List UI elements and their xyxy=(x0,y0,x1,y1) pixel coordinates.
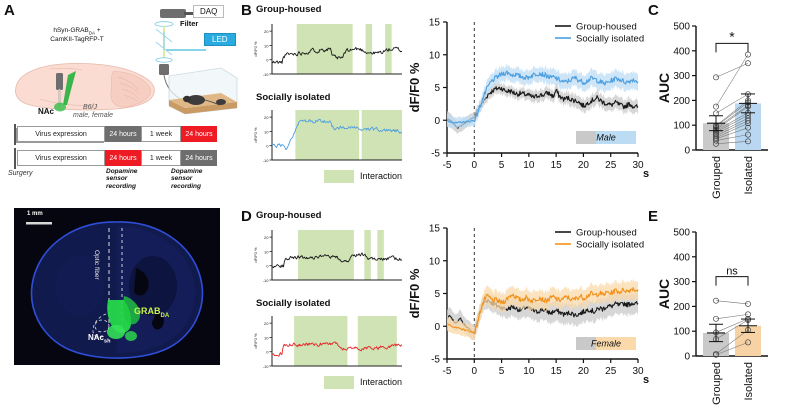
svg-text:-10: -10 xyxy=(263,158,270,163)
svg-text:Grouped: Grouped xyxy=(711,156,723,199)
nac-hist-label: NAcsh xyxy=(88,333,110,345)
scalebar-label: 1 mm xyxy=(27,211,43,217)
nac-expression xyxy=(54,103,66,112)
mouse-intruder xyxy=(216,99,226,105)
svg-text:0: 0 xyxy=(684,146,690,157)
panelb-example-trace-isolated: 20100-10dF/F0 % xyxy=(250,104,405,172)
paneld-mean-trace-chart[interactable]: -5051015-5051015202530dF/F0 %sGroup-hous… xyxy=(405,214,660,389)
svg-text:200: 200 xyxy=(673,302,690,313)
recording-caption-2: Dopamine sensor recording xyxy=(171,168,202,190)
svg-text:Grouped: Grouped xyxy=(711,362,723,405)
svg-text:15: 15 xyxy=(429,224,441,235)
svg-text:0: 0 xyxy=(266,264,269,269)
sex-label: male, female xyxy=(73,112,113,119)
panelb-example-trace-grouped: 20100-10dF/F0 % xyxy=(250,18,405,86)
svg-text:10: 10 xyxy=(523,160,535,171)
histology-image: 1 mm Optic fiber GRABDA NAcsh xyxy=(14,208,220,365)
optic-fiber-label: Optic fiber xyxy=(93,250,100,280)
svg-text:dF/F0 %: dF/F0 % xyxy=(407,268,422,318)
strain-label: B6/J xyxy=(83,104,97,111)
svg-text:20: 20 xyxy=(264,235,269,240)
svg-text:-5: -5 xyxy=(431,149,440,160)
paneld-example-trace-grouped: 20100-10dF/F0 % xyxy=(250,224,405,292)
panelb-trace-bottom-title: Socially isolated xyxy=(256,92,330,103)
svg-text:s: s xyxy=(643,374,649,386)
panel-label-c: C xyxy=(648,2,659,19)
svg-text:dF/F0 %: dF/F0 % xyxy=(407,62,422,112)
svg-text:AUC: AUC xyxy=(656,279,672,309)
svg-text:10: 10 xyxy=(264,249,269,254)
tl-start-tick-2 xyxy=(14,148,16,169)
svg-text:-10: -10 xyxy=(263,278,270,283)
svg-text:dF/F0 %: dF/F0 % xyxy=(253,247,258,263)
tl-cell-24h-1a: 24 hours xyxy=(105,126,141,142)
svg-text:300: 300 xyxy=(673,277,690,288)
panel-label-e: E xyxy=(648,208,658,225)
svg-text:ns: ns xyxy=(726,266,738,278)
timeline-row-1-wrap: Virus expression 24 hours 1 week 24 hour… xyxy=(14,124,220,145)
svg-text:10: 10 xyxy=(523,366,535,377)
svg-text:5: 5 xyxy=(499,160,505,171)
tl-start-tick-1 xyxy=(14,124,16,145)
tl-cell-1week-2: 1 week xyxy=(141,150,181,166)
svg-text:s: s xyxy=(643,168,649,180)
surgery-label: Surgery xyxy=(8,170,33,177)
grab-label-text: GRAB xyxy=(134,306,161,316)
mouse-head xyxy=(183,96,191,102)
svg-text:10: 10 xyxy=(429,50,441,61)
coronal-section xyxy=(14,208,220,365)
paneld-trace-top-title: Group-housed xyxy=(256,210,321,221)
paneld-interaction-swatch xyxy=(324,376,354,389)
svg-text:5: 5 xyxy=(499,366,505,377)
svg-text:25: 25 xyxy=(605,366,617,377)
paneld-trace-bottom-title: Socially isolated xyxy=(256,298,330,309)
paneld-example-trace-isolated: 20100-10dF/F0 % xyxy=(250,310,405,378)
svg-text:0: 0 xyxy=(434,322,440,333)
svg-text:0: 0 xyxy=(434,116,440,127)
svg-text:0: 0 xyxy=(684,352,690,363)
tl-cell-24h-2b: 24 hours xyxy=(181,150,217,166)
lens-1 xyxy=(155,22,173,27)
svg-text:-5: -5 xyxy=(443,160,452,171)
svg-text:400: 400 xyxy=(673,252,690,263)
svg-text:20: 20 xyxy=(264,321,269,326)
construct-plus: + xyxy=(95,27,101,34)
svg-text:100: 100 xyxy=(673,121,690,132)
svg-text:500: 500 xyxy=(673,228,690,239)
svg-text:Group-housed: Group-housed xyxy=(576,22,637,33)
detector-body xyxy=(160,9,186,18)
panelb-interaction-legend: Interaction xyxy=(360,171,402,181)
svg-text:200: 200 xyxy=(673,96,690,107)
svg-text:15: 15 xyxy=(551,160,563,171)
svg-text:5: 5 xyxy=(434,83,440,94)
led-box: LED xyxy=(204,33,236,46)
svg-text:dF/F0 %: dF/F0 % xyxy=(253,333,258,349)
construct-line2: CamKII-TagRFP-T xyxy=(50,36,103,43)
tl-cell-24h-2a: 24 hours xyxy=(105,150,141,166)
daq-box: DAQ xyxy=(193,5,224,18)
svg-text:-10: -10 xyxy=(263,72,270,77)
panel-label-a: A xyxy=(4,2,15,19)
svg-text:*: * xyxy=(729,28,735,44)
tl-cell-1week-1: 1 week xyxy=(141,126,181,142)
svg-text:10: 10 xyxy=(264,335,269,340)
svg-text:Group-housed: Group-housed xyxy=(576,228,637,239)
svg-text:0: 0 xyxy=(472,160,478,171)
recording-caption-1: Dopamine sensor recording xyxy=(106,168,137,190)
svg-text:AUC: AUC xyxy=(656,73,672,103)
panelb-mean-trace-chart[interactable]: -5051015-5051015202530dF/F0 %sGroup-hous… xyxy=(405,8,660,183)
svg-text:20: 20 xyxy=(264,29,269,34)
svg-text:Male: Male xyxy=(596,133,616,143)
tl-cell-virus-2: Virus expression xyxy=(17,150,105,166)
svg-text:dF/F0 %: dF/F0 % xyxy=(253,41,258,57)
svg-text:20: 20 xyxy=(578,160,590,171)
svg-text:20: 20 xyxy=(264,115,269,120)
svg-text:dF/F0 %: dF/F0 % xyxy=(253,127,258,143)
grab-label: GRABDA xyxy=(134,306,169,319)
grab-label-sub: DA xyxy=(161,313,170,319)
scale-bar xyxy=(26,222,52,225)
svg-text:Female: Female xyxy=(591,339,621,349)
svg-text:Isolated: Isolated xyxy=(743,156,755,195)
timeline-row-2-wrap: Virus expression 24 hours 1 week 24 hour… xyxy=(14,148,220,169)
nac-hist-text: NAc xyxy=(88,333,104,342)
panelb-trace-top-title: Group-housed xyxy=(256,4,321,15)
nac-hist-sub: sh xyxy=(104,339,110,345)
grab-blob-2 xyxy=(125,331,137,341)
svg-text:0: 0 xyxy=(266,58,269,63)
svg-text:5: 5 xyxy=(434,289,440,300)
svg-text:10: 10 xyxy=(264,43,269,48)
svg-text:0: 0 xyxy=(472,366,478,377)
fiber-ferrule xyxy=(56,73,63,90)
svg-text:10: 10 xyxy=(264,129,269,134)
paneld-interaction-legend: Interaction xyxy=(360,377,402,387)
panelc-auc-chart[interactable]: 0100200300400500AUC*GroupedIsolated xyxy=(660,10,780,195)
svg-text:Socially isolated: Socially isolated xyxy=(576,34,644,45)
panelb-interaction-swatch xyxy=(324,170,354,183)
svg-text:15: 15 xyxy=(551,366,563,377)
filter-label: Filter xyxy=(180,19,198,28)
svg-text:15: 15 xyxy=(429,18,441,29)
svg-text:20: 20 xyxy=(578,366,590,377)
svg-text:10: 10 xyxy=(429,256,441,267)
panel-label-d: D xyxy=(241,208,252,225)
svg-text:25: 25 xyxy=(605,160,617,171)
svg-text:400: 400 xyxy=(673,46,690,57)
svg-text:300: 300 xyxy=(673,71,690,82)
home-cage xyxy=(163,60,241,118)
construct-line1: hSyn-GRAB xyxy=(53,27,88,34)
svg-text:-10: -10 xyxy=(263,364,270,369)
svg-text:0: 0 xyxy=(266,350,269,355)
panel-label-b: B xyxy=(241,2,252,19)
svg-text:100: 100 xyxy=(673,327,690,338)
panele-auc-chart[interactable]: 0100200300400500AUCnsGroupedIsolated xyxy=(660,216,780,401)
svg-text:0: 0 xyxy=(266,144,269,149)
svg-text:-5: -5 xyxy=(431,355,440,366)
svg-text:500: 500 xyxy=(673,22,690,33)
svg-text:-5: -5 xyxy=(443,366,452,377)
construct-label: hSyn-GRABDA + CamKII-TagRFP-T xyxy=(29,27,125,45)
nac-label: NAc xyxy=(38,107,54,116)
svg-text:Isolated: Isolated xyxy=(743,362,755,401)
tl-cell-24h-1b: 24 hours xyxy=(181,126,217,142)
svg-text:Socially isolated: Socially isolated xyxy=(576,240,644,251)
tl-cell-virus-1: Virus expression xyxy=(17,126,105,142)
